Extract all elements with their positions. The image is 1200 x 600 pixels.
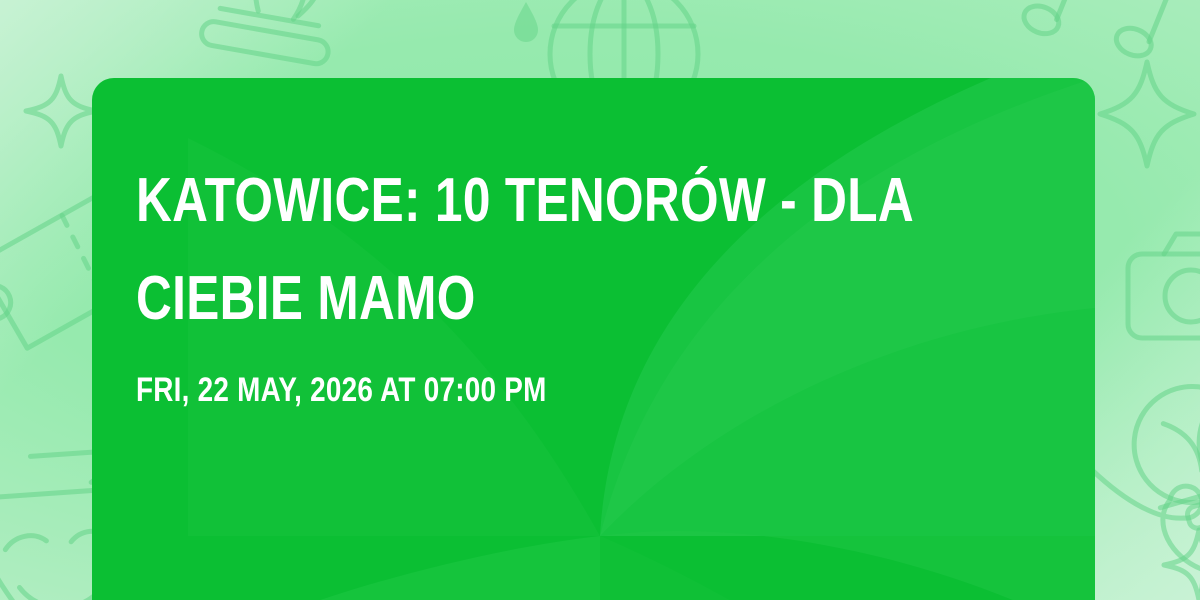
card-content: KATOWICE: 10 TENORÓW - DLA CIEBIE MAMO F…	[136, 152, 1055, 410]
camera-icon	[1120, 222, 1200, 352]
star-icon	[1154, 520, 1200, 600]
event-poster: KATOWICE: 10 TENORÓW - DLA CIEBIE MAMO F…	[0, 0, 1200, 600]
petal-lower-right	[600, 531, 1095, 600]
event-card[interactable]: KATOWICE: 10 TENORÓW - DLA CIEBIE MAMO F…	[92, 78, 1095, 600]
sparkle-icon	[1092, 54, 1200, 174]
petal-bottom-right	[600, 536, 792, 600]
droplet-icon	[506, 0, 546, 50]
petal-bottom-left	[222, 536, 600, 600]
event-datetime: FRI, 22 MAY, 2026 AT 07:00 PM	[136, 348, 874, 410]
event-title: KATOWICE: 10 TENORÓW - DLA CIEBIE MAMO	[136, 152, 1056, 348]
